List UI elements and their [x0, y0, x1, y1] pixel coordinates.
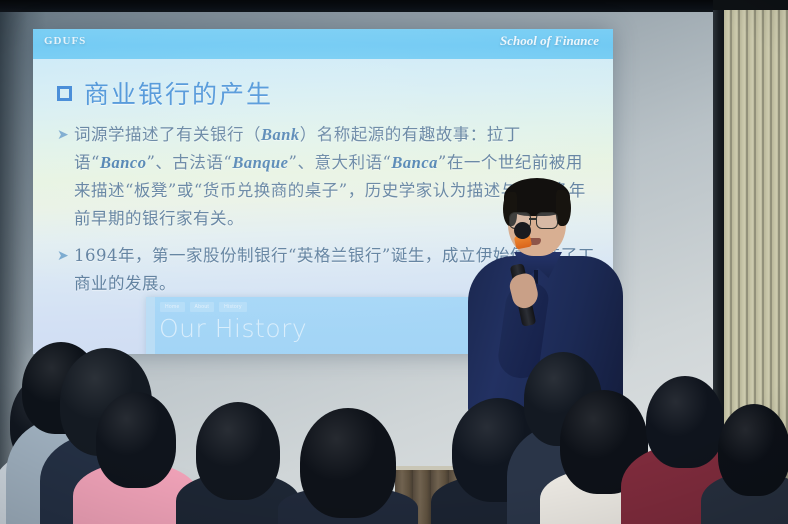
glasses-right-lens-icon	[536, 212, 558, 229]
breadcrumb-item: Home	[160, 302, 185, 312]
slide-title: 商业银行的产生	[57, 75, 273, 111]
arrow-bullet-icon: ➤	[57, 242, 74, 298]
glasses-bridge-icon	[529, 218, 536, 220]
breadcrumb-item: About	[190, 302, 215, 312]
embedded-heading: Our History	[159, 314, 307, 343]
gdufs-logo-text: GDUFS	[44, 35, 86, 47]
embedded-left-margin	[146, 297, 155, 354]
arrow-bullet-icon: ➤	[57, 121, 74, 233]
audience-head-ponytail	[96, 392, 176, 488]
emphasis-term: Banque	[232, 153, 288, 172]
breadcrumb-item: History	[219, 302, 247, 312]
audience-head-right-3	[646, 376, 724, 468]
panel-top-shadow	[713, 0, 788, 10]
breadcrumb: HomeAboutHistory	[160, 302, 247, 312]
presenter-hair-right	[556, 190, 571, 226]
lecture-hall-photo: GDUFS School of Finance 商业银行的产生 ➤ 词源学描述了…	[0, 0, 788, 524]
audience-head-far-right	[718, 404, 788, 496]
audience-head-mid-2	[300, 408, 396, 518]
slide-header-band: GDUFS School of Finance	[33, 29, 613, 59]
square-bullet-icon	[57, 86, 72, 101]
school-of-finance-label: School of Finance	[500, 33, 599, 49]
emphasis-term: Banco	[100, 153, 147, 172]
emphasis-term: Banca	[391, 153, 438, 172]
slide-title-text: 商业银行的产生	[84, 75, 273, 111]
audience-head-mid-1	[196, 402, 280, 500]
emphasis-term: Bank	[261, 125, 300, 144]
embedded-screenshot: HomeAboutHistory Our History The Bank of…	[146, 297, 468, 354]
